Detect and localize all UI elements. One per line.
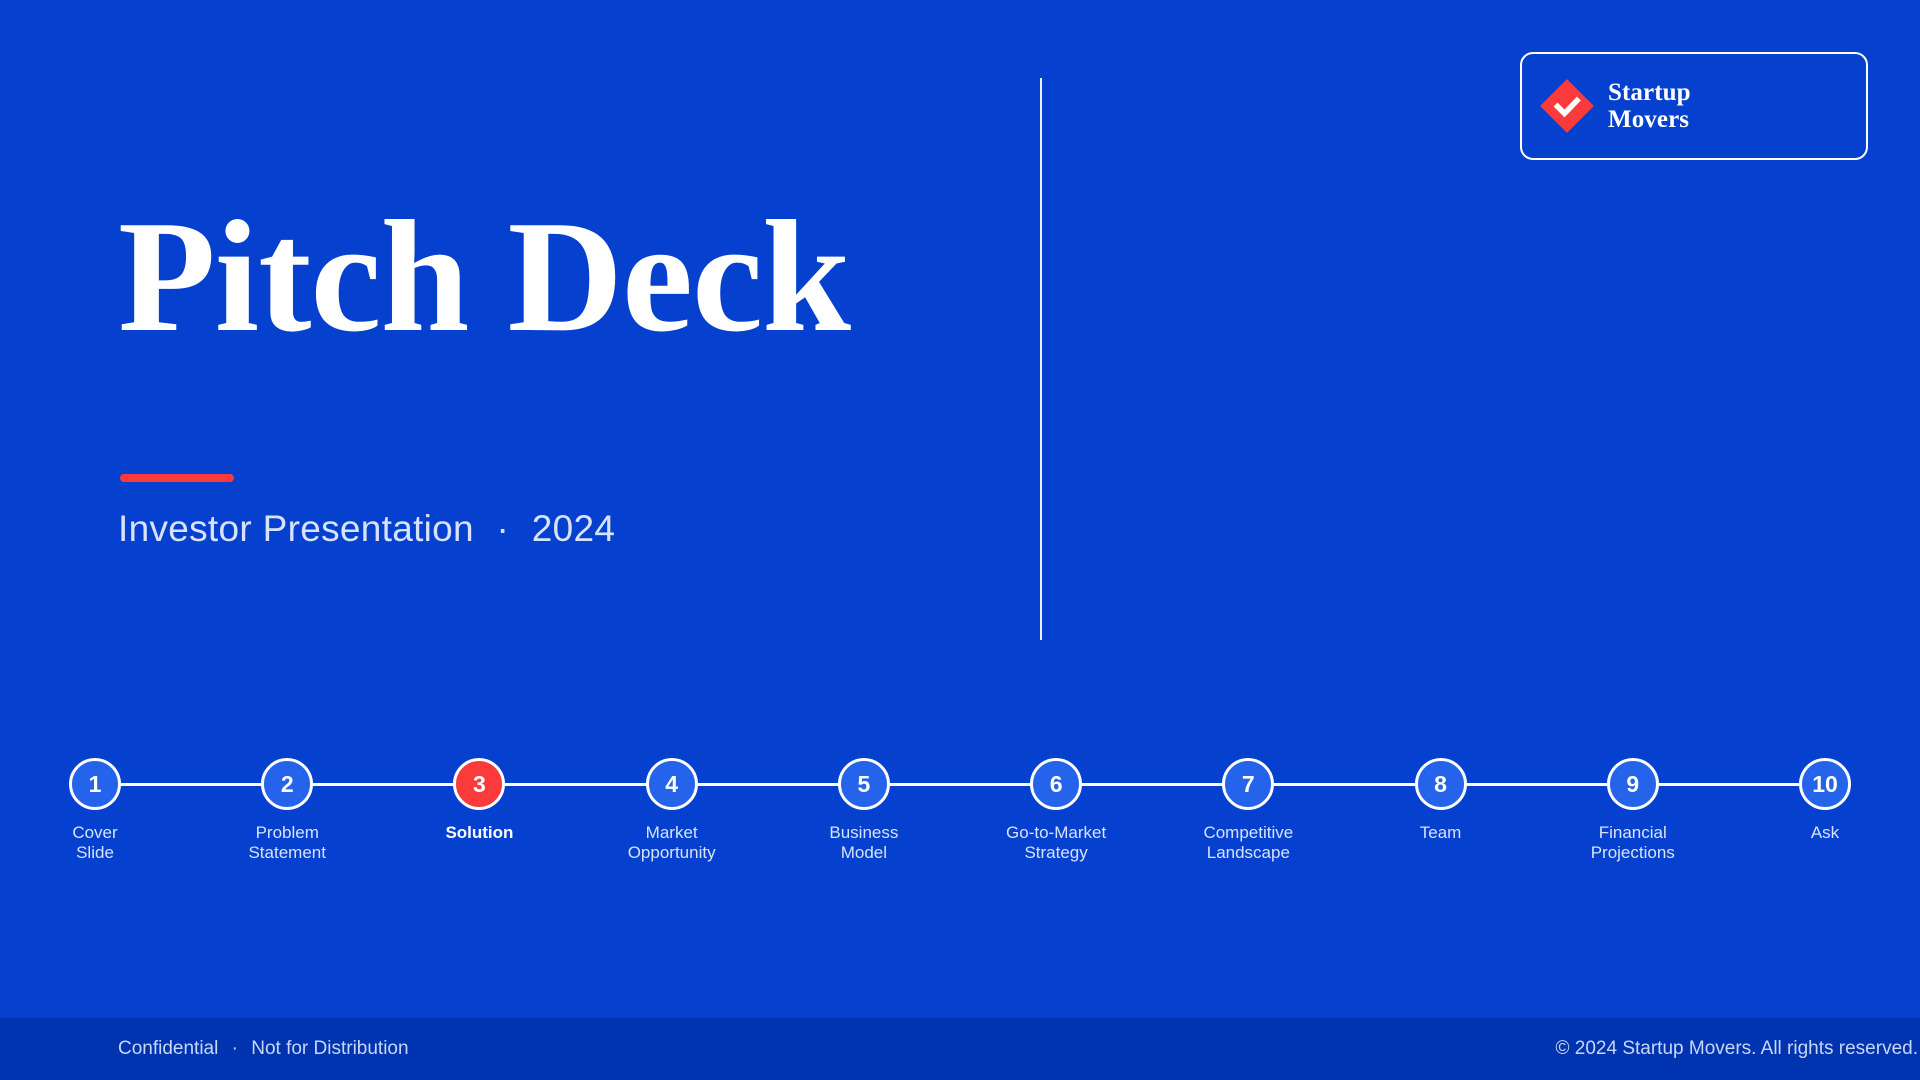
stepper-step-number-3[interactable]: 3 — [453, 758, 505, 810]
stepper-step-label-9: Financial Projections — [1553, 823, 1713, 863]
footer-left-text2: Not for Distribution — [251, 1038, 408, 1059]
page-title: Pitch Deck — [118, 196, 850, 356]
logo-line-1: Startup — [1608, 79, 1691, 106]
footer-copyright: © 2024 Startup Movers. All rights reserv… — [1556, 1038, 1920, 1060]
stepper-step-label-6: Go-to-Market Strategy — [976, 823, 1136, 863]
stepper-step-number-6[interactable]: 6 — [1030, 758, 1082, 810]
slide-stepper: 1Cover Slide2Problem Statement3Solution4… — [0, 745, 1920, 905]
stepper-step-number-5[interactable]: 5 — [838, 758, 890, 810]
stepper-step-number-9[interactable]: 9 — [1607, 758, 1659, 810]
stepper-step-1[interactable]: 1Cover Slide — [15, 745, 175, 863]
stepper-step-label-2: Problem Statement — [207, 823, 367, 863]
stepper-step-number-10[interactable]: 10 — [1799, 758, 1851, 810]
stepper-step-number-8[interactable]: 8 — [1415, 758, 1467, 810]
logo-line-2: Movers — [1608, 106, 1691, 133]
vertical-divider-line — [1040, 78, 1042, 640]
stepper-step-number-2[interactable]: 2 — [261, 758, 313, 810]
stepper-step-label-7: Competitive Landscape — [1168, 823, 1328, 863]
stepper-step-9[interactable]: 9Financial Projections — [1553, 745, 1713, 863]
check-diamond-icon — [1544, 83, 1590, 129]
accent-bar — [120, 474, 234, 482]
subtitle-separator: · — [485, 508, 522, 549]
subtitle: Investor Presentation · 2024 — [118, 508, 615, 550]
stepper-step-label-8: Team — [1361, 823, 1521, 843]
stepper-step-7[interactable]: 7Competitive Landscape — [1168, 745, 1328, 863]
logo-wordmark: Startup Movers — [1608, 79, 1691, 133]
subtitle-year: 2024 — [532, 508, 616, 549]
stepper-step-3[interactable]: 3Solution — [399, 745, 559, 843]
stepper-step-label-3: Solution — [399, 823, 559, 843]
slide-footer: Confidential · Not for Distribution © 20… — [0, 1018, 1920, 1080]
stepper-step-6[interactable]: 6Go-to-Market Strategy — [976, 745, 1136, 863]
stepper-step-2[interactable]: 2Problem Statement — [207, 745, 367, 863]
footer-left-separator: · — [224, 1038, 246, 1059]
stepper-step-number-1[interactable]: 1 — [69, 758, 121, 810]
footer-left-text: Confidential — [118, 1038, 218, 1059]
stepper-step-number-7[interactable]: 7 — [1222, 758, 1274, 810]
stepper-step-label-4: Market Opportunity — [592, 823, 752, 863]
stepper-step-label-5: Business Model — [784, 823, 944, 863]
stepper-step-label-10: Ask — [1745, 823, 1905, 843]
stepper-step-5[interactable]: 5Business Model — [784, 745, 944, 863]
logo-badge: Startup Movers — [1520, 52, 1868, 160]
stepper-step-label-1: Cover Slide — [15, 823, 175, 863]
stepper-step-number-4[interactable]: 4 — [646, 758, 698, 810]
footer-confidentiality-note: Confidential · Not for Distribution — [118, 1038, 409, 1060]
subtitle-text: Investor Presentation — [118, 508, 474, 549]
stepper-step-4[interactable]: 4Market Opportunity — [592, 745, 752, 863]
stepper-step-8[interactable]: 8Team — [1361, 745, 1521, 843]
stepper-step-10[interactable]: 10Ask — [1745, 745, 1905, 843]
pitch-deck-cover-slide: Startup Movers Pitch Deck Investor Prese… — [0, 0, 1920, 1080]
